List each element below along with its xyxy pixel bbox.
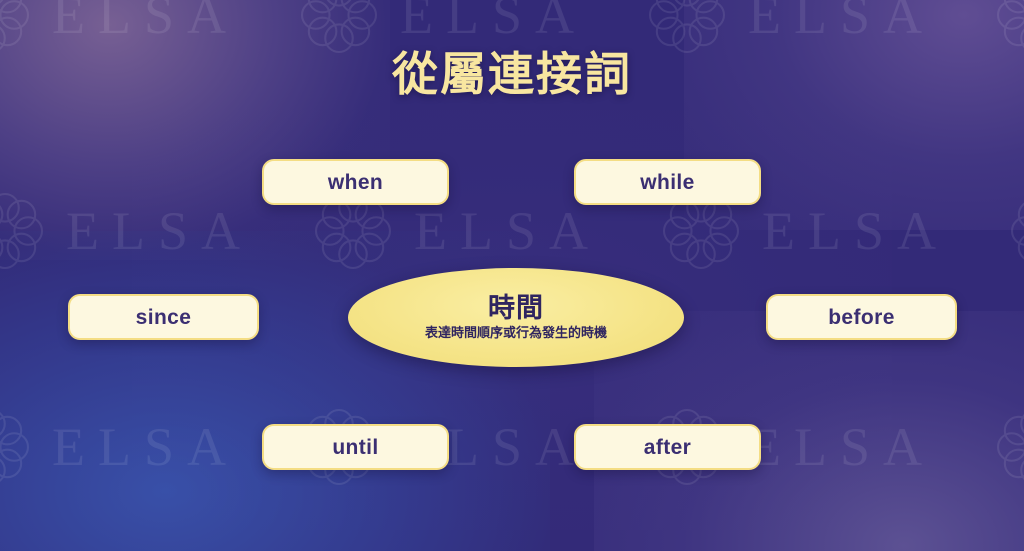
center-node-description: 表達時間順序或行為發生的時機	[425, 326, 607, 342]
conjunction-chip-before[interactable]: before	[766, 294, 957, 340]
chip-label: before	[828, 307, 895, 328]
chip-label: after	[644, 437, 692, 458]
chip-label: when	[328, 172, 383, 193]
conjunction-chip-until[interactable]: until	[262, 424, 449, 470]
page-title: 從屬連接詞	[0, 38, 1024, 104]
slide-canvas: ELSAELSAELSAELSAELSAELSAELSAELSAELSAELSA…	[0, 0, 1024, 551]
center-category-node: 時間 表達時間順序或行為發生的時機	[348, 268, 684, 367]
conjunction-chip-while[interactable]: while	[574, 159, 761, 205]
chip-label: since	[136, 307, 192, 328]
conjunction-chip-when[interactable]: when	[262, 159, 449, 205]
center-node-heading: 時間	[488, 294, 544, 324]
conjunction-chip-since[interactable]: since	[68, 294, 259, 340]
conjunction-chip-after[interactable]: after	[574, 424, 761, 470]
chip-label: until	[332, 437, 378, 458]
chip-label: while	[640, 172, 695, 193]
